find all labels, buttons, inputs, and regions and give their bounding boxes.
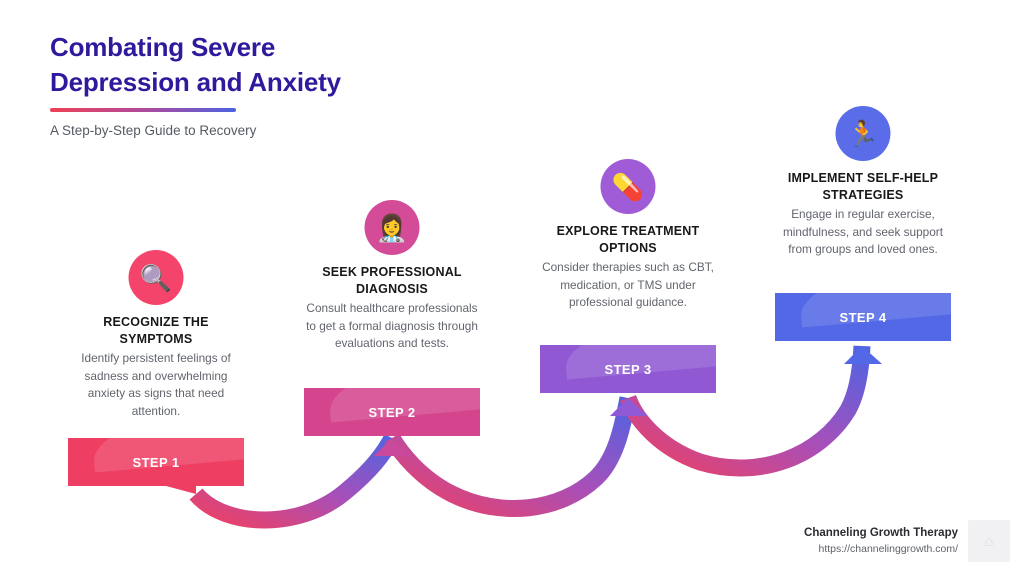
runner-icon: 🏃 xyxy=(847,121,879,147)
footer-branding: Channeling Growth Therapy https://channe… xyxy=(804,520,1010,562)
step-4-heading: IMPLEMENT SELF-HELP STRATEGIES xyxy=(775,170,951,204)
page-subtitle: A Step-by-Step Guide to Recovery xyxy=(50,123,470,138)
title-gradient-rule xyxy=(50,108,236,112)
footer-text: Channeling Growth Therapy https://channe… xyxy=(804,525,958,558)
step-4-banner[interactable]: STEP 4 xyxy=(775,293,951,341)
footer-brand-name: Channeling Growth Therapy xyxy=(804,525,958,542)
magnifying-glass-icon: 🔍 xyxy=(140,265,172,291)
step-1-body: Identify persistent feelings of sadness … xyxy=(68,350,244,421)
step-1-banner-label: STEP 1 xyxy=(133,455,180,470)
health-worker-icon: 👩‍⚕️ xyxy=(376,215,408,241)
step-2-banner-label: STEP 2 xyxy=(369,405,416,420)
step-3-heading: EXPLORE TREATMENT OPTIONS xyxy=(540,223,716,257)
step-4-body: Engage in regular exercise, mindfulness,… xyxy=(775,206,951,259)
step-3-body: Consider therapies such as CBT, medicati… xyxy=(540,259,716,312)
step-2-icon-circle: 👩‍⚕️ xyxy=(365,200,420,255)
title-line-1: Combating Severe xyxy=(50,30,470,65)
step-card-1[interactable]: 🔍 RECOGNIZE THE SYMPTOMS Identify persis… xyxy=(68,250,244,490)
step-card-3[interactable]: 💊 EXPLORE TREATMENT OPTIONS Consider the… xyxy=(540,159,716,399)
step-4-banner-label: STEP 4 xyxy=(840,310,887,325)
step-2-heading: SEEK PROFESSIONAL DIAGNOSIS xyxy=(304,264,480,298)
logo-glyph-icon: ⌂ xyxy=(984,533,993,550)
step-3-banner[interactable]: STEP 3 xyxy=(540,345,716,393)
step-3-banner-label: STEP 3 xyxy=(605,362,652,377)
title-line-2: Depression and Anxiety xyxy=(50,65,470,100)
step-4-icon-circle: 🏃 xyxy=(836,106,891,161)
step-2-body: Consult healthcare professionals to get … xyxy=(304,300,480,353)
step-1-heading: RECOGNIZE THE SYMPTOMS xyxy=(68,314,244,348)
step-1-icon-circle: 🔍 xyxy=(129,250,184,305)
step-3-icon-circle: 💊 xyxy=(601,159,656,214)
pill-icon: 💊 xyxy=(612,174,644,200)
footer-logo-placeholder: ⌂ xyxy=(968,520,1010,562)
step-card-4[interactable]: 🏃 IMPLEMENT SELF-HELP STRATEGIES Engage … xyxy=(775,106,951,346)
page-title: Combating Severe Depression and Anxiety xyxy=(50,30,470,100)
step-2-banner[interactable]: STEP 2 xyxy=(304,388,480,436)
footer-url[interactable]: https://channelinggrowth.com/ xyxy=(804,542,958,558)
step-1-banner[interactable]: STEP 1 xyxy=(68,438,244,486)
step-card-2[interactable]: 👩‍⚕️ SEEK PROFESSIONAL DIAGNOSIS Consult… xyxy=(304,200,480,440)
infographic-canvas: Combating Severe Depression and Anxiety … xyxy=(0,0,1024,576)
